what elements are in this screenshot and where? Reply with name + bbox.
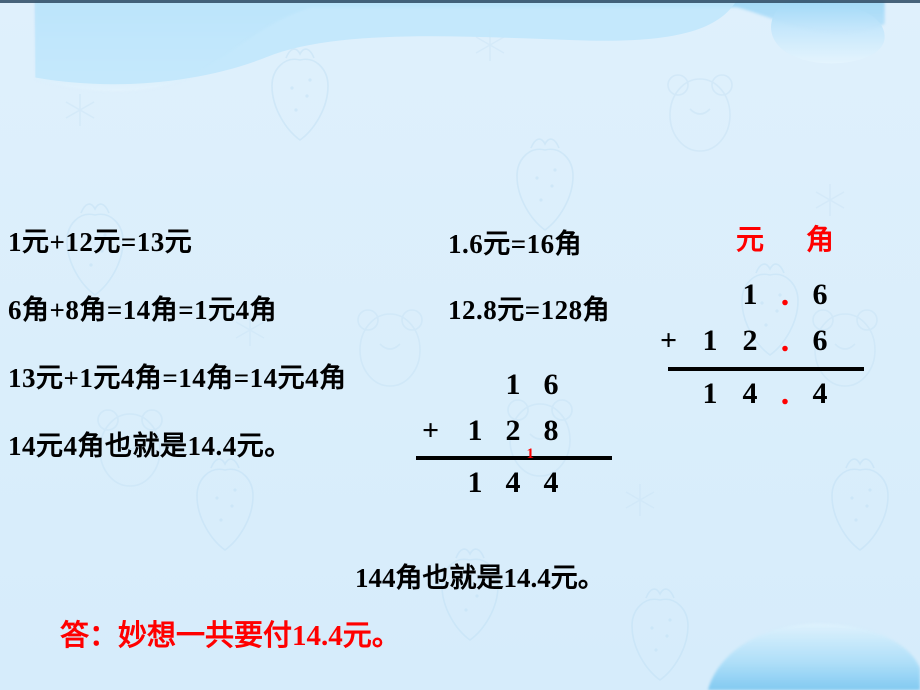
left-equation-line-4: 14元4角也就是14.4元。 (8, 424, 292, 463)
vertical-sum-decimal-addend2-point: . (770, 318, 800, 364)
vertical-sum-decimal-addend1-row: 1 . 6 (660, 272, 870, 318)
vertical-sum-jiao-plus-operator: + (416, 408, 456, 454)
answer-line: 答：妙想一共要付14.4元。 (60, 612, 401, 654)
vertical-sum-decimal: 1 . 6 + 1 2 . 6 1 4 . 4 (660, 272, 870, 417)
vertical-sum-jiao-addend1-d1: 1 (494, 362, 532, 408)
vertical-sum-jiao-addend2-d1: 2 1 (494, 408, 532, 454)
vertical-sum-decimal-addend2-ones: 2 (730, 318, 770, 364)
slide-content: 1元+12元=13元 6角+8角=14角=1元4角 13元+1元4角=14角=1… (0, 0, 920, 690)
slide-canvas: 1元+12元=13元 6角+8角=14角=1元4角 13元+1元4角=14角=1… (0, 0, 920, 690)
header-spacer-tens (690, 218, 730, 258)
vertical-sum-jiao-addend2-d2: 8 (532, 408, 570, 454)
vertical-sum-jiao-addend2-d1-digit: 2 (506, 414, 521, 447)
vertical-sum-jiao-result-d1: 4 (494, 460, 532, 506)
header-yuan: 元 (730, 218, 770, 258)
vertical-sum-jiao-result-d2: 4 (532, 460, 570, 506)
vertical-sum-decimal-result-point: . (770, 371, 800, 417)
vertical-sum-jiao: 1 6 + 1 2 1 8 1 4 4 (416, 362, 616, 506)
vertical-sum-decimal-plus-operator: + (660, 318, 690, 364)
vertical-sum-decimal-addend2-row: + 1 2 . 6 (660, 318, 870, 364)
decimal-column-headers: 元 角 (660, 218, 870, 258)
left-equation-line-1: 1元+12元=13元 (8, 220, 192, 259)
vertical-sum-decimal-addend1-tenths: 6 (800, 272, 840, 318)
vertical-sum-decimal-result-tenths: 4 (800, 371, 840, 417)
vertical-sum-jiao-result-d0: 1 (456, 460, 494, 506)
vertical-sum-decimal-result-tens: 1 (690, 371, 730, 417)
header-dot-spacer (770, 218, 800, 258)
vertical-sum-decimal-addend2-tenths: 6 (800, 318, 840, 364)
middle-equation-line-2: 12.8元=128角 (448, 288, 610, 327)
vertical-sum-jiao-addend2-row: + 1 2 1 8 (416, 408, 616, 454)
left-equation-line-2: 6角+8角=14角=1元4角 (8, 288, 277, 327)
vertical-sum-jiao-result-row: 1 4 4 (416, 460, 616, 506)
vertical-sum-decimal-addend1-ones: 1 (730, 272, 770, 318)
vertical-sum-decimal-result-row: 1 4 . 4 (660, 371, 870, 417)
middle-equation-line-1: 1.6元=16角 (448, 222, 582, 261)
header-jiao: 角 (800, 218, 840, 258)
vertical-sum-jiao-addend1-row: 1 6 (416, 362, 616, 408)
conclusion-line-jiao: 144角也就是14.4元。 (355, 556, 605, 595)
header-spacer (660, 218, 690, 258)
left-equation-line-3: 13元+1元4角=14角=14元4角 (8, 356, 347, 395)
vertical-sum-jiao-addend1-d2: 6 (532, 362, 570, 408)
vertical-sum-decimal-addend1-point: . (770, 272, 800, 318)
vertical-sum-decimal-addend2-tens: 1 (690, 318, 730, 364)
vertical-sum-decimal-result-ones: 4 (730, 371, 770, 417)
vertical-sum-jiao-addend2-d0: 1 (456, 408, 494, 454)
